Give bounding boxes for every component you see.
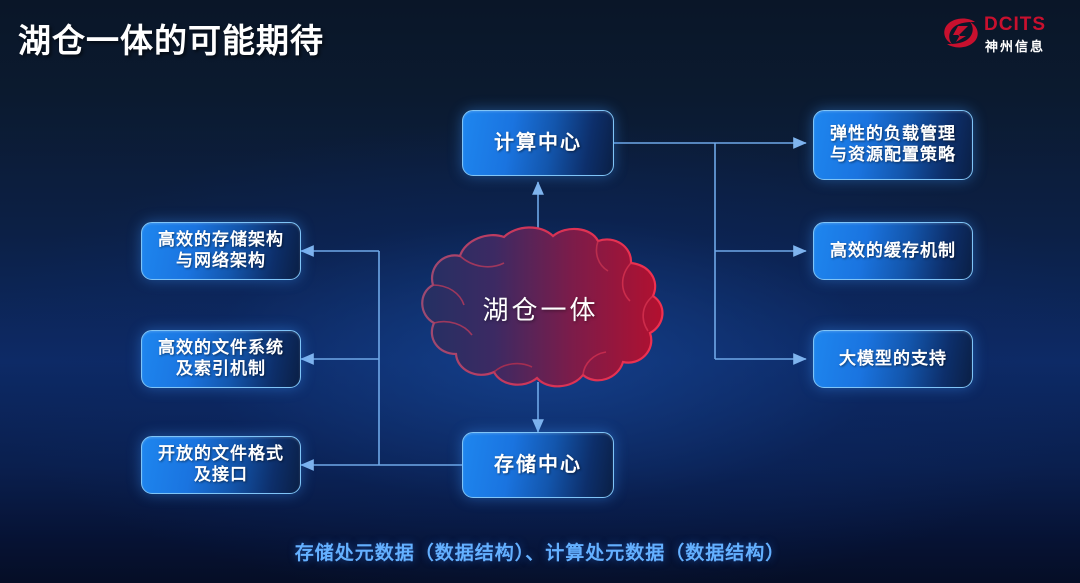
central-cloud: 湖仓一体 — [408, 223, 673, 393]
node-right-efficient-cache-mechanism[interactable]: 高效的缓存机制 — [813, 222, 973, 280]
page-title: 湖仓一体的可能期待 — [18, 14, 324, 62]
node-storage-center[interactable]: 存储中心 — [462, 432, 614, 498]
node-left-storage-network-architecture[interactable]: 高效的存储架构与网络架构 — [141, 222, 301, 280]
node-compute-center[interactable]: 计算中心 — [462, 110, 614, 176]
footer-caption: 存储处元数据（数据结构）、计算处元数据（数据结构） — [0, 538, 1080, 565]
node-left-filesystem-index-mechanism[interactable]: 高效的文件系统及索引机制 — [141, 330, 301, 388]
swoosh-icon — [942, 16, 980, 50]
node-right-large-model-support[interactable]: 大模型的支持 — [813, 330, 973, 388]
cloud-label: 湖仓一体 — [408, 223, 673, 393]
brand-logo: DCITS 神州信息 — [942, 12, 1062, 58]
slide-canvas: 湖仓一体的可能期待 DCITS 神州信息 — [0, 0, 1080, 583]
brand-name-en: DCITS — [984, 14, 1046, 36]
node-right-elastic-workload-resource-policy[interactable]: 弹性的负载管理与资源配置策略 — [813, 110, 973, 180]
brand-name-cn: 神州信息 — [985, 36, 1045, 55]
node-left-open-file-format-interface[interactable]: 开放的文件格式及接口 — [141, 436, 301, 494]
